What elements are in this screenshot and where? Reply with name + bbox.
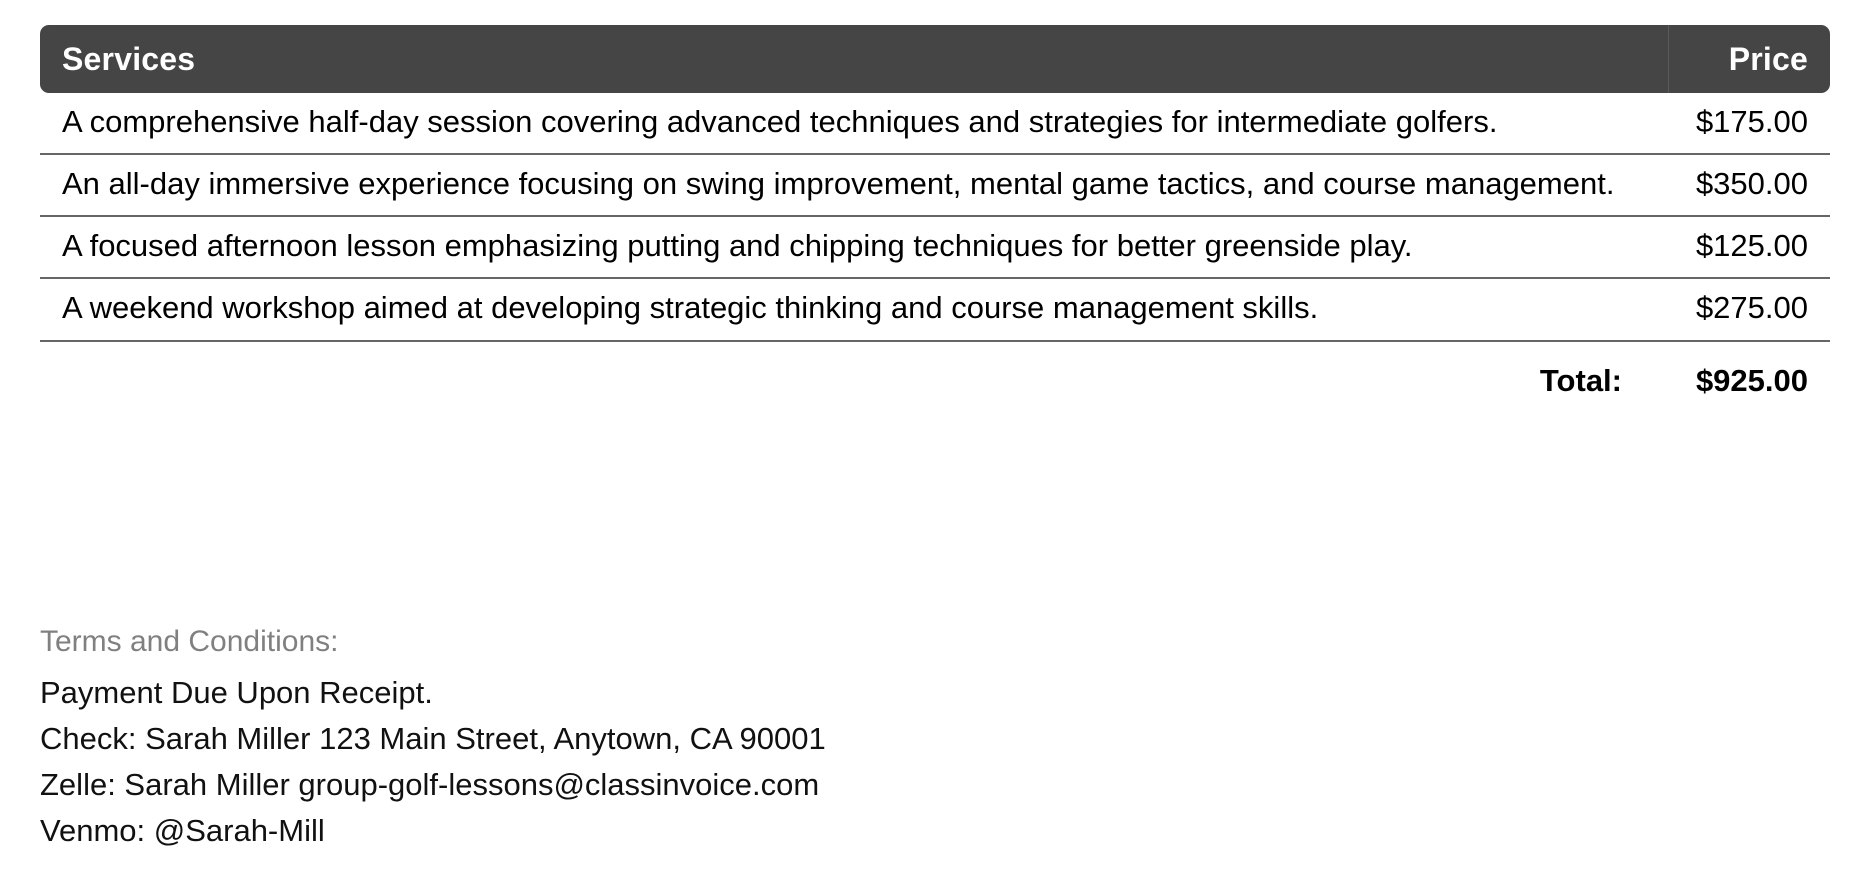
column-header-services[interactable]: Services <box>40 25 1668 93</box>
table-row: A focused afternoon lesson emphasizing p… <box>40 216 1830 278</box>
total-label: Total: <box>40 341 1668 404</box>
service-description: A weekend workshop aimed at developing s… <box>40 278 1668 340</box>
service-description: A focused afternoon lesson emphasizing p… <box>40 216 1668 278</box>
terms-heading: Terms and Conditions: <box>40 625 1740 658</box>
table-row: A weekend workshop aimed at developing s… <box>40 278 1830 340</box>
total-row: Total: $925.00 <box>40 341 1830 404</box>
service-description: An all-day immersive experience focusing… <box>40 154 1668 216</box>
terms-line-payment-due: Payment Due Upon Receipt. <box>40 670 1740 716</box>
terms-line-check: Check: Sarah Miller 123 Main Street, Any… <box>40 716 1740 762</box>
terms-and-conditions-section: Terms and Conditions: Payment Due Upon R… <box>40 625 1740 854</box>
services-table-header: Services Price <box>40 25 1830 93</box>
service-price: $350.00 <box>1668 154 1830 216</box>
invoice-page: Services Price A comprehensive half-day … <box>0 0 1868 870</box>
terms-line-venmo: Venmo: @Sarah-Mill <box>40 808 1740 854</box>
services-table-body: A comprehensive half-day session coverin… <box>40 93 1830 404</box>
header-row: Services Price <box>40 25 1830 93</box>
service-price: $175.00 <box>1668 93 1830 154</box>
services-table: Services Price A comprehensive half-day … <box>40 25 1830 404</box>
column-header-price[interactable]: Price <box>1668 25 1830 93</box>
terms-line-zelle: Zelle: Sarah Miller group-golf-lessons@c… <box>40 762 1740 808</box>
table-row: A comprehensive half-day session coverin… <box>40 93 1830 154</box>
service-description: A comprehensive half-day session coverin… <box>40 93 1668 154</box>
table-row: An all-day immersive experience focusing… <box>40 154 1830 216</box>
service-price: $125.00 <box>1668 216 1830 278</box>
services-table-container: Services Price A comprehensive half-day … <box>40 25 1830 404</box>
total-value: $925.00 <box>1668 341 1830 404</box>
service-price: $275.00 <box>1668 278 1830 340</box>
